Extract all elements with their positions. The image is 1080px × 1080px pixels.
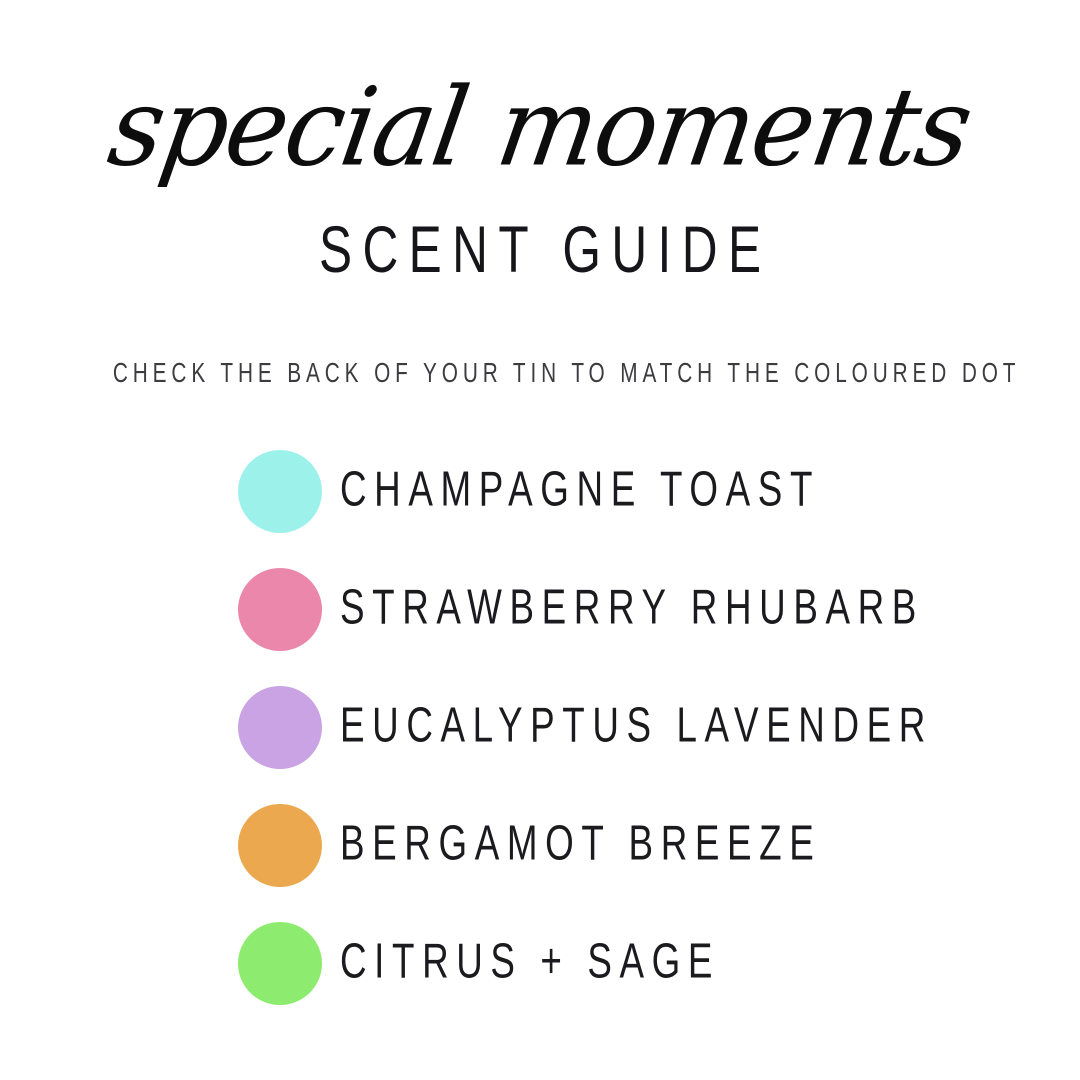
citrus-sage-dot bbox=[238, 922, 322, 1005]
scent-label: BERGAMOT BREEZE bbox=[340, 818, 821, 867]
eucalyptus-lavender-dot bbox=[238, 686, 322, 769]
champagne-toast-dot bbox=[238, 450, 322, 533]
strawberry-rhubarb-dot bbox=[238, 568, 322, 651]
page-title: SCENT GUIDE bbox=[108, 218, 972, 284]
page-subtitle: CHECK THE BACK OF YOUR TIN TO MATCH THE … bbox=[108, 358, 972, 386]
scent-list: CHAMPAGNE TOAST STRAWBERRY RHUBARB EUCAL… bbox=[238, 450, 938, 1040]
list-item: EUCALYPTUS LAVENDER bbox=[238, 686, 938, 804]
brand-title-word-2: moments bbox=[489, 64, 979, 191]
scent-guide-page: specialmoments SCENT GUIDE CHECK THE BAC… bbox=[0, 0, 1080, 1080]
scent-label: EUCALYPTUS LAVENDER bbox=[340, 700, 933, 749]
list-item: CITRUS + SAGE bbox=[238, 922, 938, 1040]
list-item: STRAWBERRY RHUBARB bbox=[238, 568, 938, 686]
scent-label: CITRUS + SAGE bbox=[340, 936, 720, 985]
scent-label: CHAMPAGNE TOAST bbox=[340, 464, 820, 513]
bergamot-breeze-dot bbox=[238, 804, 322, 887]
list-item: BERGAMOT BREEZE bbox=[238, 804, 938, 922]
scent-label: STRAWBERRY RHUBARB bbox=[340, 582, 924, 631]
list-item: CHAMPAGNE TOAST bbox=[238, 450, 938, 568]
brand-title: specialmoments bbox=[0, 72, 1080, 182]
brand-title-word-1: special bbox=[101, 64, 475, 191]
